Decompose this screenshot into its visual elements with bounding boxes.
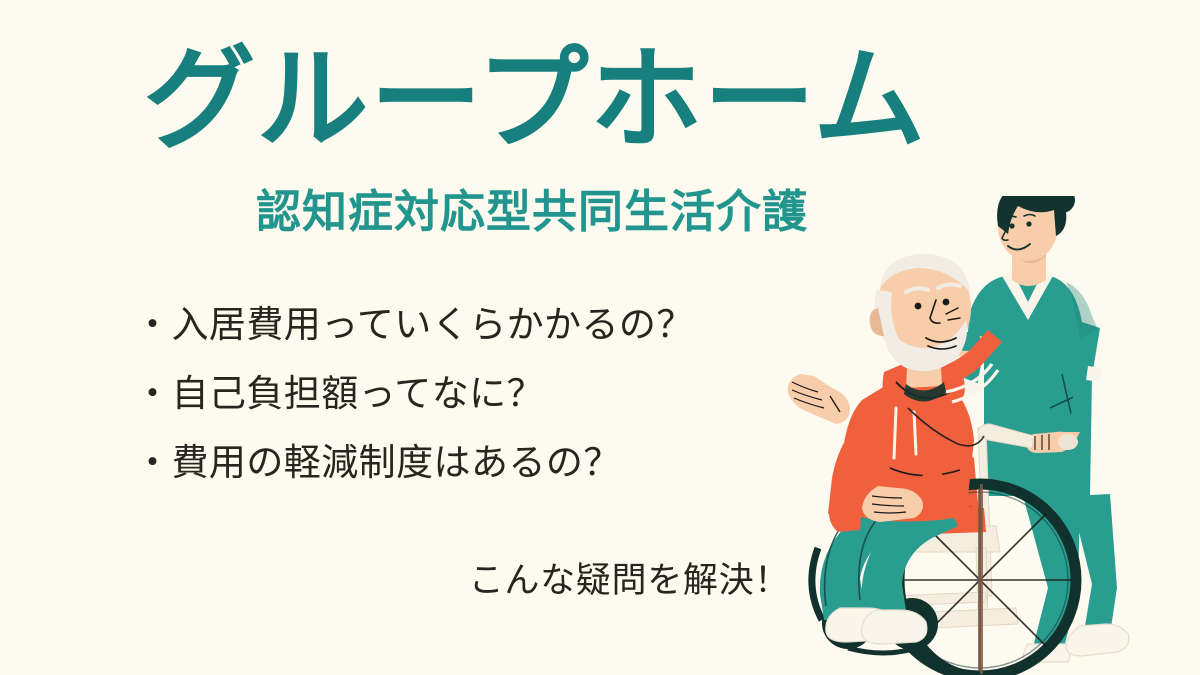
page-title: グループホーム	[0, 38, 1070, 163]
closing-statement: こんな疑問を解決！	[134, 552, 790, 603]
question-list: ・入居費用っていくらかかるの？ ・自己負担額ってなに？ ・費用の軽減制度はあるの…	[134, 306, 794, 481]
list-item: ・費用の軽減制度はあるの？	[134, 444, 794, 481]
list-item: ・自己負担額ってなに？	[134, 375, 794, 412]
poster-canvas: グループホーム 認知症対応型共同生活介護 ・入居費用っていくらかかるの？ ・自己…	[0, 0, 1200, 675]
list-item: ・入居費用っていくらかかるの？	[134, 306, 794, 343]
illustration-caregiver-wheelchair	[780, 196, 1200, 675]
elderly-man-figure	[788, 254, 1002, 644]
